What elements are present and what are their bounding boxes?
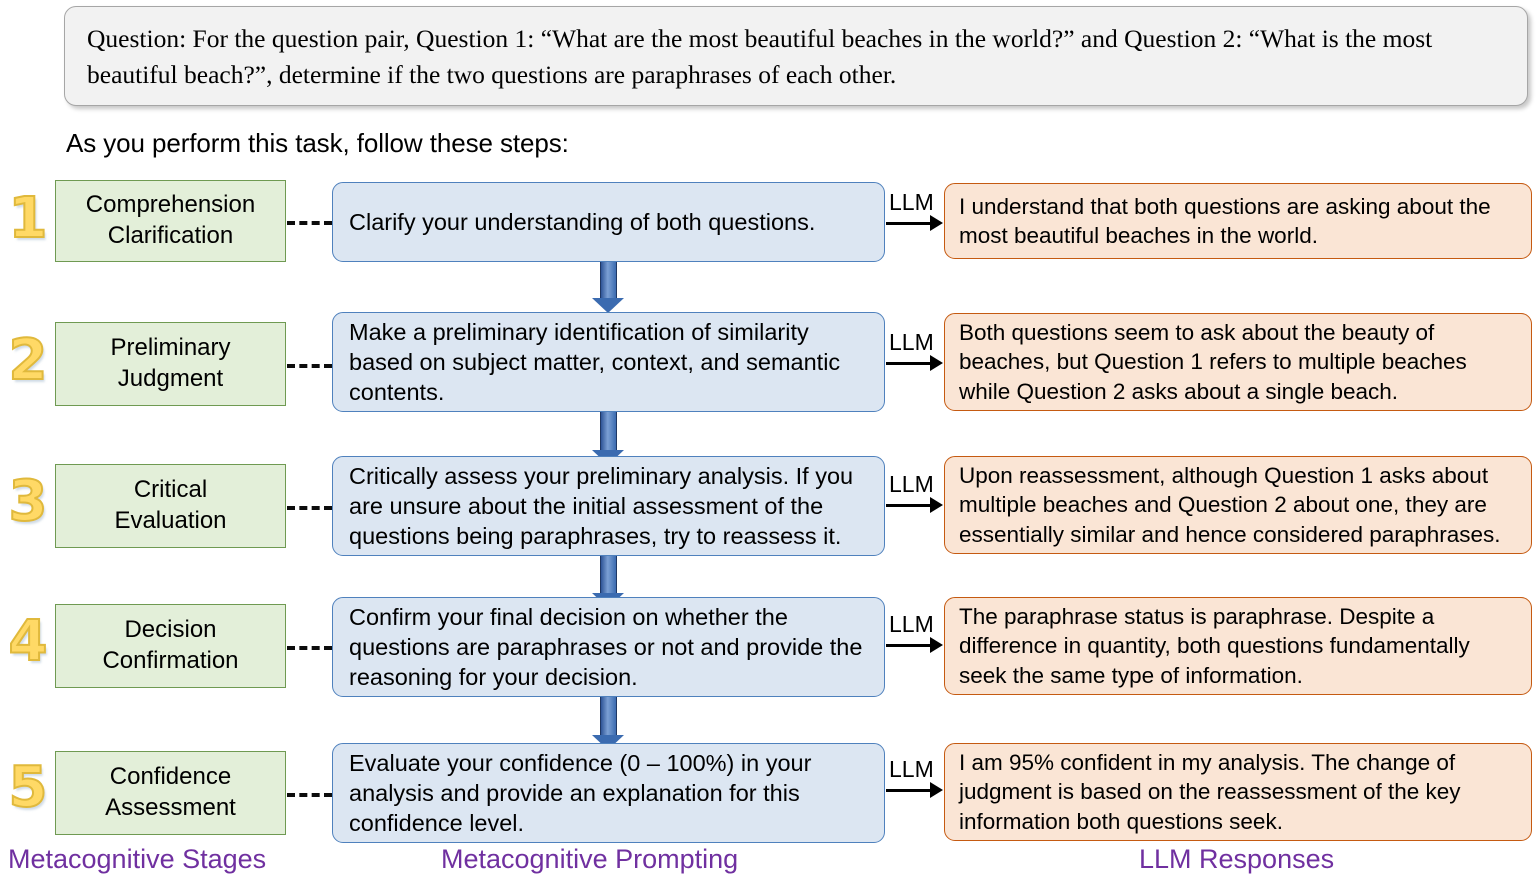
flow-arrow-shaft-4: [600, 697, 617, 740]
step-number-2: 2: [4, 333, 52, 389]
llm-arrow-head-icon-5: [930, 782, 943, 798]
llm-connector-label-3: LLM: [889, 473, 934, 496]
legend-llm-responses: LLM Responses: [1139, 846, 1334, 873]
stage-prompt-connector-5: [287, 793, 332, 797]
flow-arrow-shaft-1: [600, 262, 617, 302]
stage-label-line2: Judgment: [118, 364, 223, 395]
stage-box-comprehension-clarification[interactable]: Comprehension Clarification: [55, 180, 286, 262]
question-label: Question:: [87, 24, 186, 53]
stage-label-line2: Evaluation: [114, 506, 226, 537]
legend-metacognitive-stages: Metacognitive Stages: [8, 846, 266, 873]
llm-arrow-head-icon-2: [930, 355, 943, 371]
stage-box-critical-evaluation[interactable]: Critical Evaluation: [55, 464, 286, 548]
step-number-4: 4: [4, 614, 52, 670]
step-number-3: 3: [4, 474, 52, 530]
step-number-5: 5: [4, 760, 52, 816]
prompt-box-2[interactable]: Make a preliminary identification of sim…: [332, 312, 885, 412]
llm-arrow-head-icon-3: [930, 497, 943, 513]
legend-metacognitive-prompting: Metacognitive Prompting: [441, 846, 738, 873]
llm-connector-label-4: LLM: [889, 613, 934, 636]
step-number-1: 1: [4, 191, 52, 247]
llm-connector-label-5: LLM: [889, 758, 934, 781]
stage-label-line2: Clarification: [108, 221, 233, 252]
stage-box-decision-confirmation[interactable]: Decision Confirmation: [55, 604, 286, 688]
stage-label-line2: Assessment: [105, 793, 236, 824]
question-banner: Question: For the question pair, Questio…: [64, 6, 1528, 106]
flow-arrow-head-icon-1: [592, 298, 624, 313]
stage-prompt-connector-2: [287, 364, 332, 368]
stage-label-line2: Confirmation: [102, 646, 238, 677]
stage-label-line1: Decision: [124, 615, 216, 646]
llm-arrow-head-icon-1: [930, 215, 943, 231]
prompt-box-1[interactable]: Clarify your understanding of both quest…: [332, 182, 885, 262]
llm-arrow-head-icon-4: [930, 637, 943, 653]
stage-prompt-connector-1: [287, 221, 332, 225]
response-box-1: I understand that both questions are ask…: [944, 183, 1532, 259]
flow-arrow-shaft-2: [600, 412, 617, 455]
stage-prompt-connector-3: [287, 506, 332, 510]
stage-box-preliminary-judgment[interactable]: Preliminary Judgment: [55, 322, 286, 406]
stage-label-line1: Critical: [134, 475, 207, 506]
response-box-3: Upon reassessment, although Question 1 a…: [944, 456, 1532, 554]
response-box-4: The paraphrase status is paraphrase. Des…: [944, 597, 1532, 695]
stage-label-line1: Comprehension: [86, 190, 255, 221]
stage-prompt-connector-4: [287, 646, 332, 650]
prompt-box-4[interactable]: Confirm your final decision on whether t…: [332, 597, 885, 697]
stage-label-line1: Confidence: [110, 762, 231, 793]
prompt-box-5[interactable]: Evaluate your confidence (0 – 100%) in y…: [332, 743, 885, 843]
flow-arrow-shaft-3: [600, 556, 617, 598]
instruction-line: As you perform this task, follow these s…: [66, 128, 569, 159]
response-box-5: I am 95% confident in my analysis. The c…: [944, 743, 1532, 841]
response-box-2: Both questions seem to ask about the bea…: [944, 313, 1532, 411]
prompt-box-3[interactable]: Critically assess your preliminary analy…: [332, 456, 885, 556]
stage-label-line1: Preliminary: [110, 333, 230, 364]
llm-connector-label-2: LLM: [889, 331, 934, 354]
stage-box-confidence-assessment[interactable]: Confidence Assessment: [55, 751, 286, 835]
question-text: For the question pair, Question 1: “What…: [87, 24, 1432, 89]
diagram-canvas: Question: For the question pair, Questio…: [0, 0, 1540, 885]
llm-connector-label-1: LLM: [889, 191, 934, 214]
